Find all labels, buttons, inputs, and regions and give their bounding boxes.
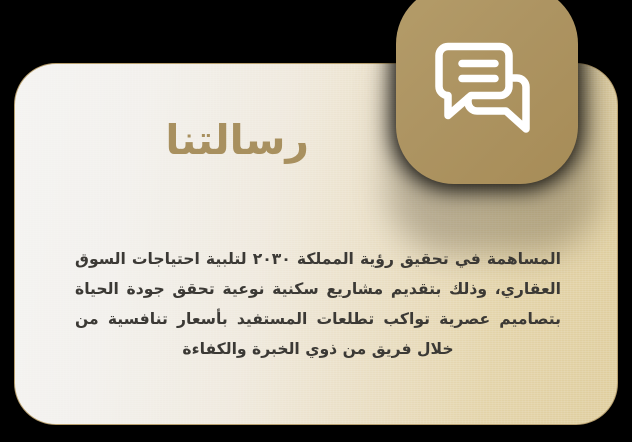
page-title: رسالتنا (165, 120, 309, 161)
mission-body-text: المساهمة في تحقيق رؤية المملكة ٢٠٣٠ لتلب… (75, 244, 561, 364)
icon-badge (396, 0, 578, 184)
chat-bubbles-icon (431, 32, 543, 144)
page-root: رسالتنا المساهمة في تحقيق رؤية المملكة ٢… (0, 0, 632, 442)
